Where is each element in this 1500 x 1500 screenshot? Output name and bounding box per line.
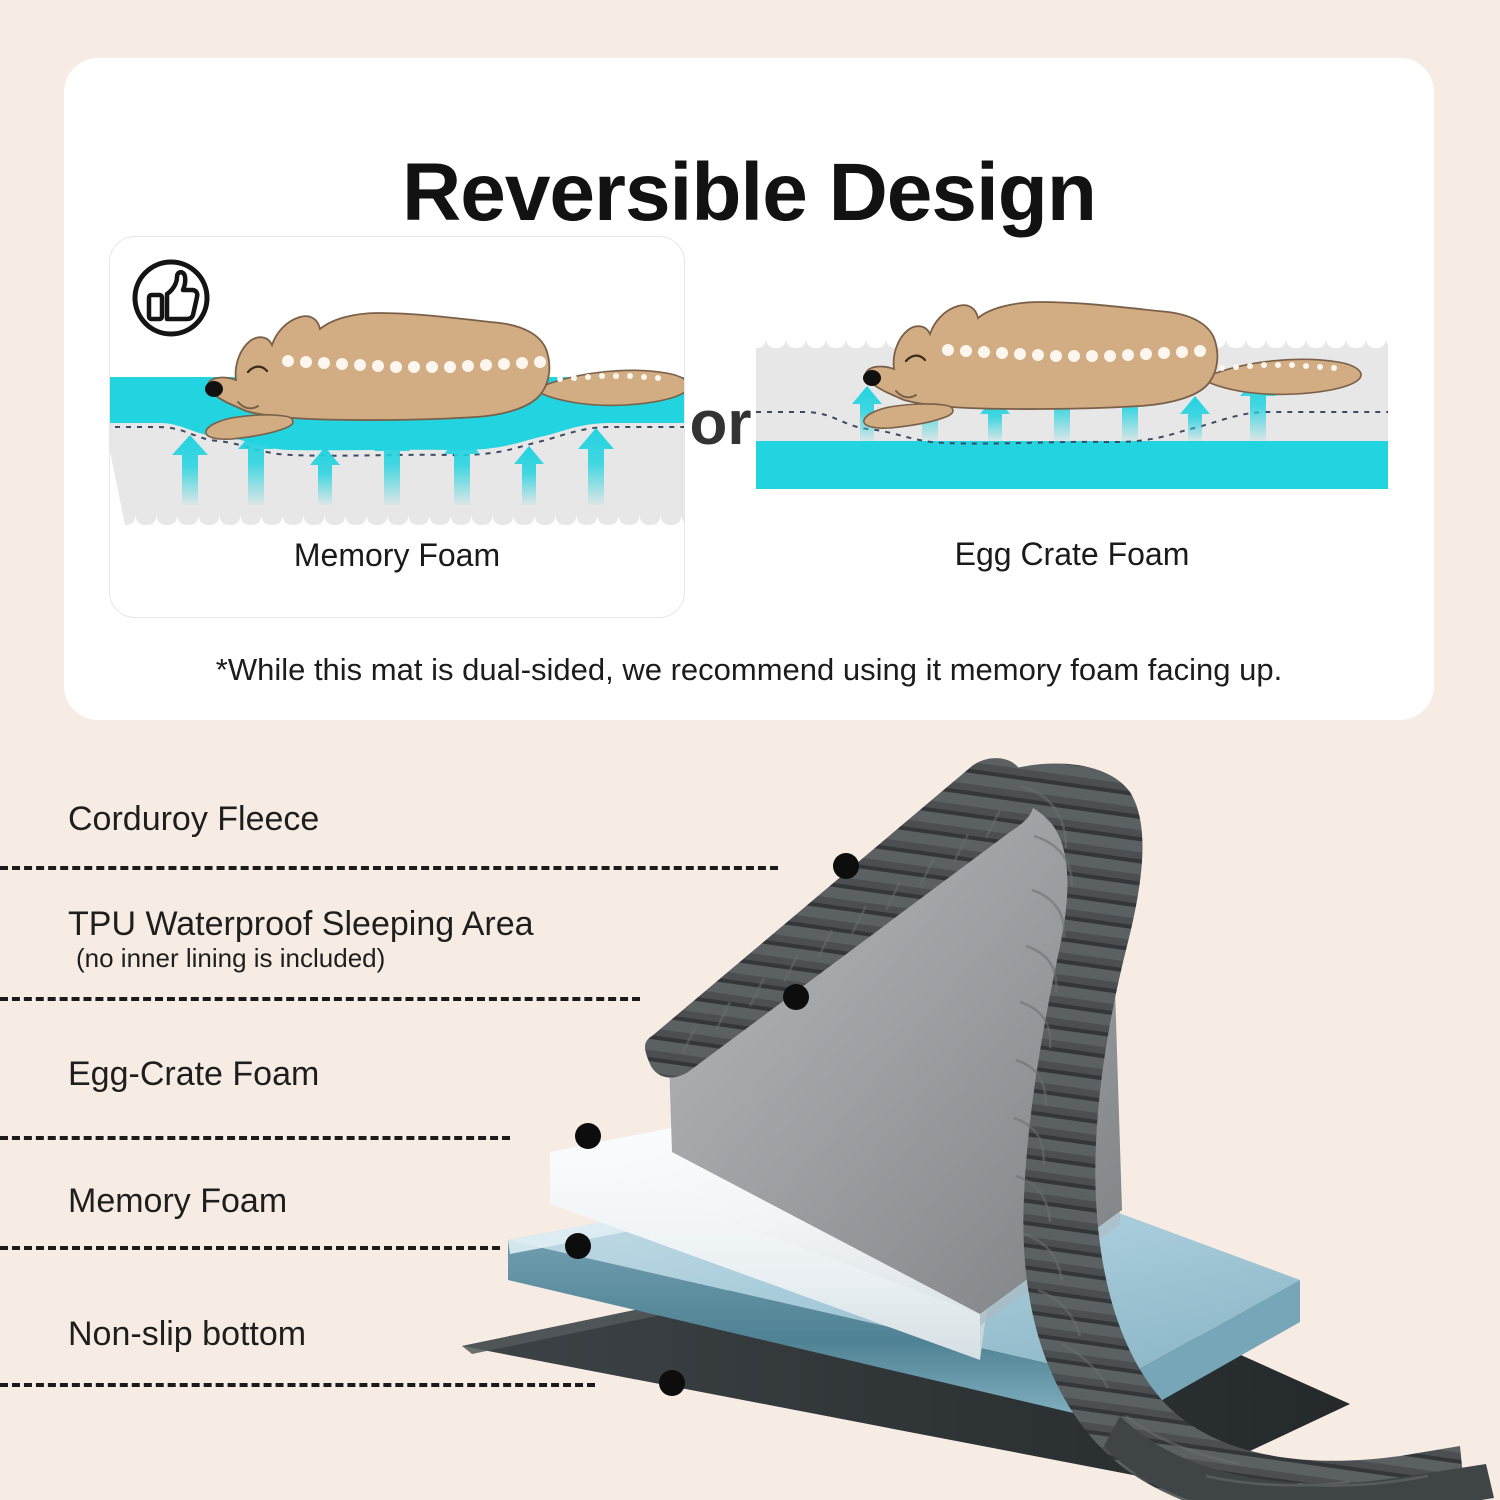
callout-non-slip-bottom: Non-slip bottom bbox=[68, 1315, 306, 1353]
leader-line-non-slip-bottom bbox=[0, 1383, 595, 1387]
leader-dot-non-slip-bottom bbox=[659, 1370, 685, 1396]
callout-label: Memory Foam bbox=[68, 1182, 287, 1220]
leader-dot-memory-foam bbox=[565, 1233, 591, 1259]
callout-corduroy-fleece: Corduroy Fleece bbox=[68, 800, 319, 838]
egg-crate-foam-diagram bbox=[756, 236, 1388, 536]
callout-egg-crate-foam: Egg-Crate Foam bbox=[68, 1055, 319, 1093]
callout-label: TPU Waterproof Sleeping Area bbox=[68, 905, 534, 943]
callout-sublabel: (no inner lining is included) bbox=[68, 943, 534, 974]
callout-label: Non-slip bottom bbox=[68, 1315, 306, 1353]
reversible-footnote: *While this mat is dual-sided, we recomm… bbox=[64, 652, 1434, 688]
page-title: Reversible Design bbox=[64, 146, 1434, 240]
callout-label: Egg-Crate Foam bbox=[68, 1055, 319, 1093]
panel-egg-crate-foam: Egg Crate Foam bbox=[756, 236, 1388, 618]
panel-label-egg-crate-foam: Egg Crate Foam bbox=[756, 536, 1388, 573]
callout-label: Corduroy Fleece bbox=[68, 800, 319, 838]
callout-tpu-waterproof: TPU Waterproof Sleeping Area (no inner l… bbox=[68, 905, 534, 974]
comparison-row: Memory Foam bbox=[64, 236, 1434, 618]
leader-dot-egg-crate-foam bbox=[575, 1123, 601, 1149]
or-separator-label: or bbox=[685, 388, 756, 459]
leader-line-tpu-waterproof bbox=[0, 997, 640, 1001]
leader-line-egg-crate-foam bbox=[0, 1136, 510, 1140]
leader-dot-corduroy-fleece bbox=[833, 853, 859, 879]
reversible-design-card: Reversible Design bbox=[64, 58, 1434, 720]
leader-dot-tpu-waterproof bbox=[783, 984, 809, 1010]
callout-memory-foam: Memory Foam bbox=[68, 1182, 287, 1220]
thumbs-up-icon bbox=[130, 257, 212, 339]
panel-label-memory-foam: Memory Foam bbox=[110, 537, 684, 574]
leader-line-memory-foam bbox=[0, 1246, 500, 1250]
leader-line-corduroy-fleece bbox=[0, 866, 778, 870]
panel-memory-foam: Memory Foam bbox=[109, 236, 685, 618]
